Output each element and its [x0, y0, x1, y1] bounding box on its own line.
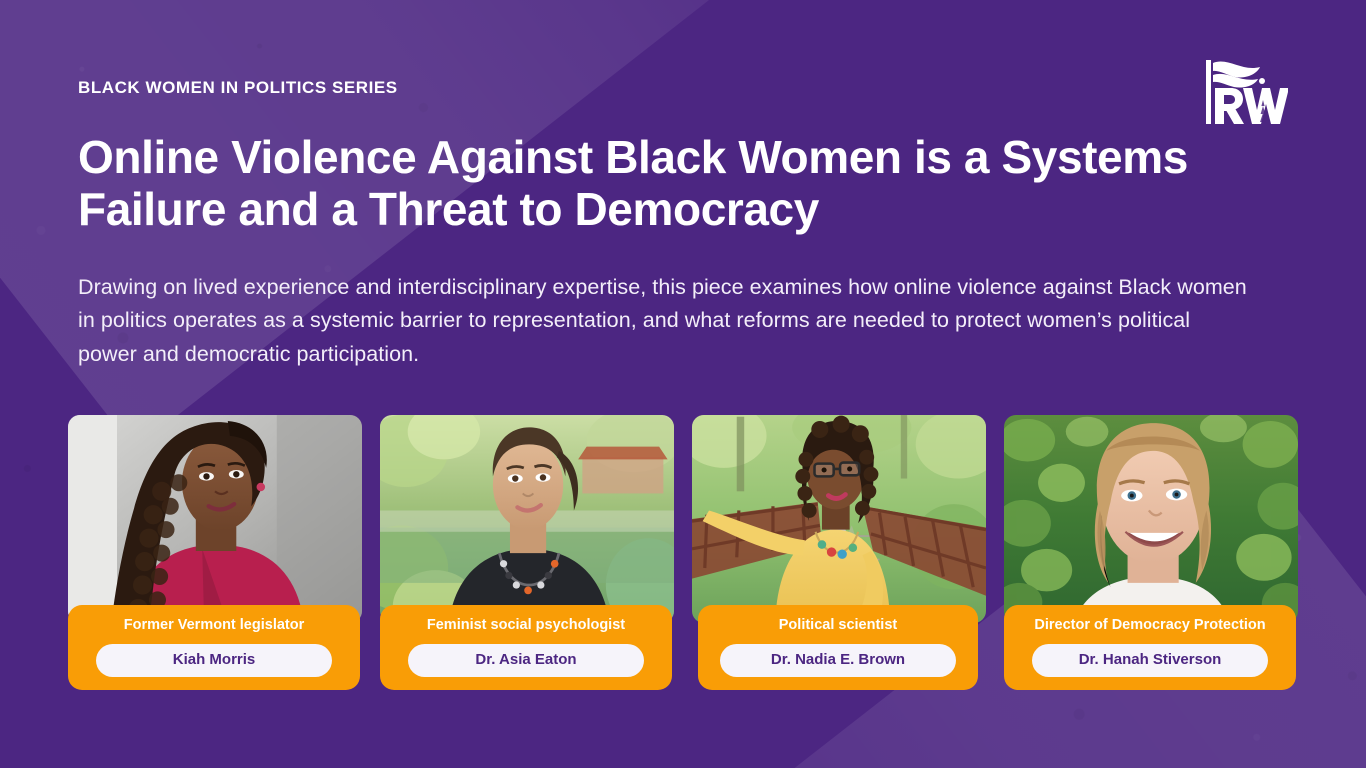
speaker-caption: Former Vermont legislator Kiah Morris [68, 605, 360, 690]
speaker-role: Director of Democracy Protection [1018, 616, 1282, 634]
speaker-role: Feminist social psychologist [394, 616, 658, 634]
series-kicker: BLACK WOMEN IN POLITICS SERIES [78, 78, 398, 98]
speaker-card[interactable]: Former Vermont legislator Kiah Morris [68, 415, 362, 690]
speaker-card[interactable]: Director of Democracy Protection Dr. Han… [1004, 415, 1298, 690]
speaker-card-list: Former Vermont legislator Kiah Morris [68, 415, 1298, 690]
speaker-photo [1004, 415, 1298, 623]
speaker-role: Former Vermont legislator [82, 616, 346, 634]
rw-logo[interactable] [1202, 58, 1288, 126]
speaker-photo [68, 415, 362, 623]
speaker-caption: Director of Democracy Protection Dr. Han… [1004, 605, 1296, 690]
speaker-card[interactable]: Feminist social psychologist Dr. Asia Ea… [380, 415, 674, 690]
speaker-name[interactable]: Kiah Morris [96, 644, 332, 678]
speaker-role: Political scientist [712, 616, 964, 634]
speaker-card[interactable]: Political scientist Dr. Nadia E. Brown [692, 415, 986, 690]
speaker-caption: Feminist social psychologist Dr. Asia Ea… [380, 605, 672, 690]
page-description: Drawing on lived experience and interdis… [78, 271, 1253, 371]
speaker-name[interactable]: Dr. Nadia E. Brown [720, 644, 956, 678]
speaker-caption: Political scientist Dr. Nadia E. Brown [698, 605, 978, 690]
speaker-photo [692, 415, 986, 623]
speaker-name[interactable]: Dr. Asia Eaton [408, 644, 644, 678]
speaker-photo [380, 415, 674, 623]
page-title: Online Violence Against Black Women is a… [78, 132, 1198, 235]
speaker-name[interactable]: Dr. Hanah Stiverson [1032, 644, 1268, 678]
promo-banner: BLACK WOMEN IN POLITICS SERIES Online Vi… [0, 0, 1366, 768]
